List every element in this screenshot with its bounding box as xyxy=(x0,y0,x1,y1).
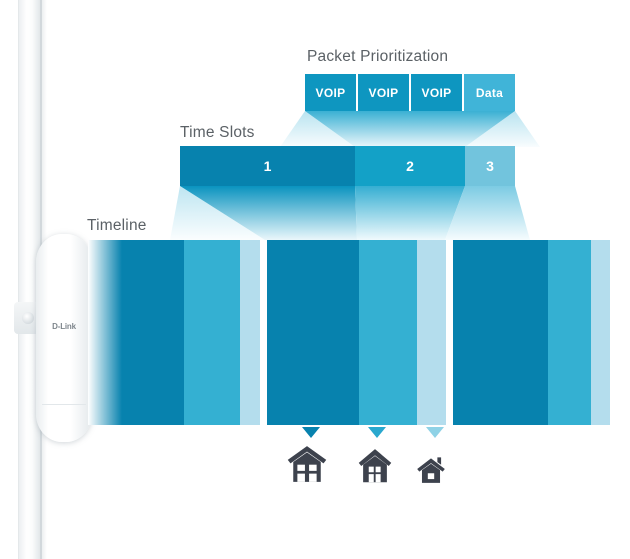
packet-prioritization-bar: VOIPVOIPVOIPData xyxy=(305,74,515,111)
timeline-block-3-band-3 xyxy=(591,240,610,425)
packet-cell-3: VOIP xyxy=(411,74,464,111)
timeline-block-2-band-3 xyxy=(417,240,446,425)
time-slot-3: 3 xyxy=(465,146,515,186)
access-point-body xyxy=(36,234,92,442)
arrow-slot-2 xyxy=(368,427,386,438)
timeline-block-3-band-2 xyxy=(548,240,591,425)
packet-cell-2: VOIP xyxy=(358,74,411,111)
packet-cell-1: VOIP xyxy=(305,74,358,111)
house-icon-small xyxy=(414,452,448,486)
timeline-block-3-band-1 xyxy=(453,240,548,425)
timeline-label: Timeline xyxy=(87,217,147,235)
timeline-block-2-band-1 xyxy=(267,240,359,425)
time-slots-bar: 123 xyxy=(180,146,515,186)
packet-prioritization-label: Packet Prioritization xyxy=(307,48,448,66)
bracket-screw-icon xyxy=(22,312,34,324)
diagram-canvas: D-Link Packet Prioritization Time Slots … xyxy=(0,0,630,559)
time-slots-label: Time Slots xyxy=(180,124,255,142)
funnel-packets-to-slots xyxy=(280,111,540,147)
timeline-track xyxy=(88,240,610,425)
timeline-block-2 xyxy=(267,240,446,425)
timeline-block-1-band-3 xyxy=(240,240,260,425)
time-slot-2: 2 xyxy=(355,146,465,186)
access-point-seam xyxy=(42,404,86,405)
house-icon-medium xyxy=(355,446,395,486)
timeline-block-1 xyxy=(88,240,260,425)
packet-cell-4: Data xyxy=(464,74,515,111)
arrow-slot-1 xyxy=(302,427,320,438)
dlink-logo: D-Link xyxy=(36,322,92,331)
timeline-block-1-band-2 xyxy=(184,240,240,425)
timeline-block-3 xyxy=(453,240,610,425)
arrow-slot-3 xyxy=(426,427,444,438)
timeline-block-2-band-2 xyxy=(359,240,417,425)
time-slot-1: 1 xyxy=(180,146,355,186)
timeline-block-1-fade xyxy=(88,240,122,425)
house-icon-large xyxy=(285,442,329,486)
funnel-slots-to-timeline xyxy=(170,186,530,240)
